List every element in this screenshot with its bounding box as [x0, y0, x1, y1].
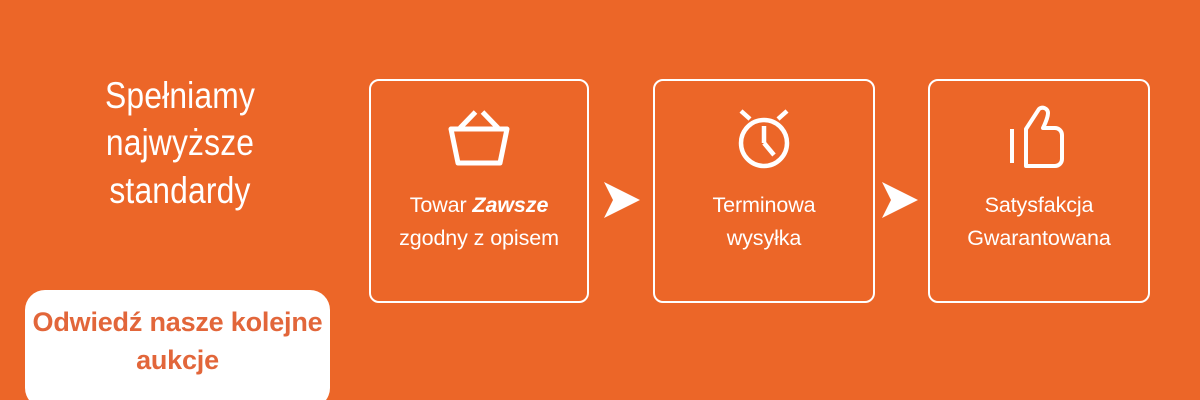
feature-card-label: Satysfakcja Gwarantowana — [930, 189, 1148, 254]
alarm-clock-icon — [727, 103, 801, 173]
feature-card-label-line1: Terminowa — [712, 193, 815, 217]
shopping-basket-icon — [442, 103, 516, 173]
thumbs-up-icon — [1004, 103, 1074, 173]
feature-card-label: Towar Zawsze zgodny z opisem — [371, 189, 587, 254]
feature-card-satisfaction-guaranteed: Satysfakcja Gwarantowana — [928, 79, 1150, 303]
promo-banner: Spełniamy najwyższe standardy Odwiedź na… — [0, 0, 1200, 400]
feature-card-label: Terminowa wysyłka — [655, 189, 873, 254]
feature-card-label-line2: Gwarantowana — [967, 226, 1110, 250]
visit-auctions-button[interactable]: Odwiedź nasze kolejne aukcje — [25, 290, 330, 400]
feature-card-label-prefix: Towar — [410, 193, 473, 217]
feature-card-label-line2: wysyłka — [727, 226, 802, 250]
feature-card-on-time-shipping: Terminowa wysyłka — [653, 79, 875, 303]
feature-card-label-line1: Satysfakcja — [985, 193, 1094, 217]
arrow-right-icon — [600, 178, 644, 222]
feature-card-label-line2: zgodny z opisem — [399, 226, 559, 250]
banner-left-column: Spełniamy najwyższe standardy Odwiedź na… — [0, 0, 360, 400]
arrow-right-icon — [878, 178, 922, 222]
page-title: Spełniamy najwyższe standardy — [32, 72, 328, 214]
feature-card-accurate-description: Towar Zawsze zgodny z opisem — [369, 79, 589, 303]
feature-card-label-emphasis: Zawsze — [472, 193, 548, 217]
visit-auctions-button-label: Odwiedź nasze kolejne aukcje — [25, 303, 330, 380]
